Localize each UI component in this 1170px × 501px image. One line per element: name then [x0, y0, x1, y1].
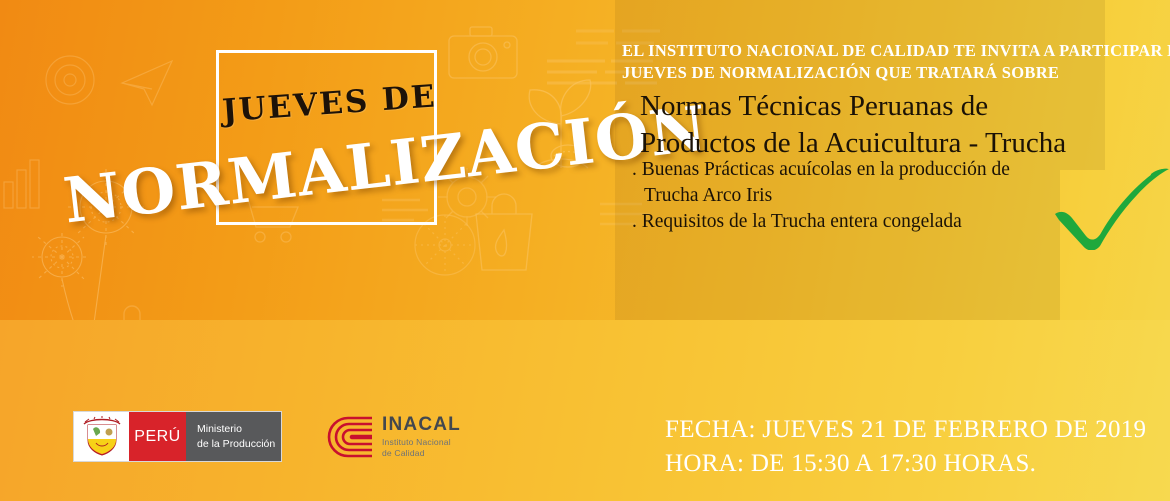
- event-banner: JUEVES DE NORMALIZACIÓN EL INSTITUTO NAC…: [0, 0, 1170, 501]
- green-check-icon: [1055, 160, 1170, 250]
- bullet-item: . Requisitos de la Trucha entera congela…: [632, 209, 1102, 235]
- bullet-marker: .: [632, 211, 637, 232]
- inacal-subtitle-line-2: de Calidad: [382, 448, 461, 459]
- invitation-line-1: EL INSTITUTO NACIONAL DE CALIDAD TE INVI…: [622, 40, 1170, 62]
- camera-icon: [446, 22, 521, 84]
- ministry-line-1: Ministerio: [197, 422, 281, 436]
- inacal-subtitle-line-1: Instituto Nacional: [382, 437, 461, 448]
- topic-bullet-list: . Buenas Prácticas acuícolas en la produ…: [632, 157, 1102, 235]
- inacal-arcs-icon: [322, 415, 374, 459]
- inacal-text-block: INACAL Instituto Nacional de Calidad: [382, 415, 461, 459]
- produce-country-label: PERÚ: [129, 412, 186, 461]
- invitation-text: EL INSTITUTO NACIONAL DE CALIDAD TE INVI…: [622, 40, 1170, 84]
- invitation-line-2: JUEVES DE NORMALIZACIÓN QUE TRATARÁ SOBR…: [622, 62, 1170, 84]
- produce-ministry-label: Ministerio de la Producción: [186, 412, 281, 461]
- bullet-marker: .: [632, 159, 637, 180]
- paper-plane-icon: [118, 55, 178, 110]
- inacal-subtitle: Instituto Nacional de Calidad: [382, 437, 461, 459]
- topic-title: Normas Técnicas Peruanas de Productos de…: [640, 88, 1170, 162]
- schedule-date: FECHA: JUEVES 21 DE FEBRERO DE 2019: [665, 413, 1170, 447]
- bullet-text: Buenas Prácticas acuícolas en la producc…: [642, 159, 1010, 180]
- bullet-continuation: Trucha Arco Iris: [632, 183, 1102, 209]
- topic-line-1: Normas Técnicas Peruanas de: [640, 88, 1170, 125]
- inacal-logo: INACAL Instituto Nacional de Calidad: [322, 413, 497, 461]
- produce-logo: PERÚ Ministerio de la Producción: [73, 411, 282, 462]
- inacal-name: INACAL: [382, 415, 461, 434]
- bullet-text: Requisitos de la Trucha entera congelada: [642, 211, 962, 232]
- peru-coat-of-arms-icon: [74, 412, 129, 461]
- schedule-block: FECHA: JUEVES 21 DE FEBRERO DE 2019 HORA…: [665, 413, 1170, 481]
- schedule-time: HORA: DE 15:30 A 17:30 HORAS.: [665, 447, 1170, 481]
- bullet-item: . Buenas Prácticas acuícolas en la produ…: [632, 157, 1102, 183]
- ministry-line-2: de la Producción: [197, 437, 281, 451]
- target-icon: [40, 50, 100, 110]
- shopping-bag-icon: [468, 190, 540, 276]
- bar-chart-icon: [0, 152, 50, 212]
